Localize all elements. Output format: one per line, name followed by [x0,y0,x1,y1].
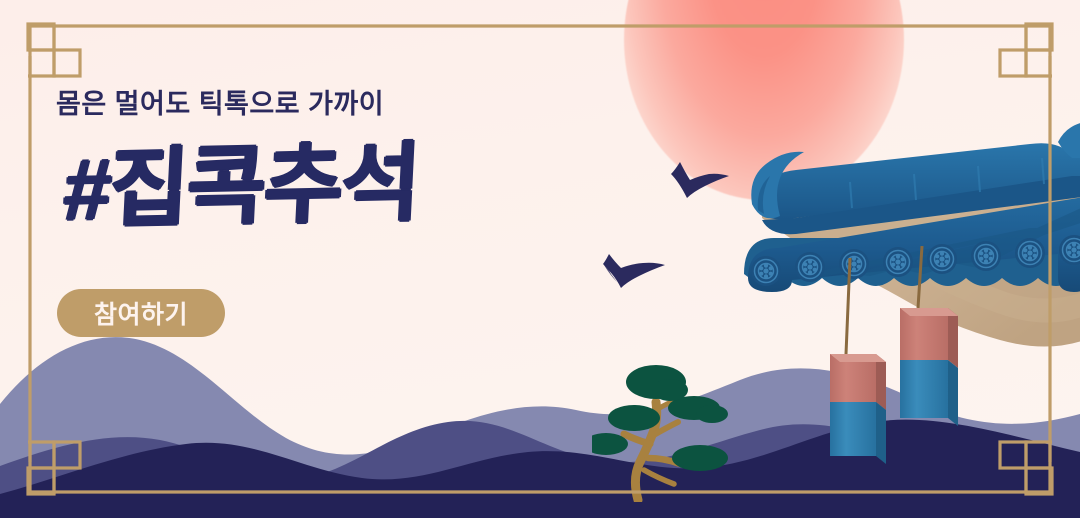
corner-ornament-top-left [28,24,80,76]
participate-button[interactable]: 참여하기 [57,289,225,337]
flying-bird-upper [671,162,729,198]
flying-birds [595,150,745,290]
chuseok-promo-banner: 몸은 멀어도 틱톡으로 가까이 #집콕추석 참여하기 [0,0,1080,518]
banner-headline-wrap: #집콕추석 [56,142,576,254]
banner-copy-block: 몸은 멀어도 틱톡으로 가까이 #집콕추석 [56,88,576,254]
hanging-lantern-left [830,258,886,464]
korean-pine-tree [592,352,737,502]
hanging-lanterns [808,246,998,476]
hanging-lantern-right [900,246,958,426]
corner-ornament-top-right [1000,24,1052,76]
banner-headline: #집콕추석 [62,139,421,237]
flying-bird-lower [603,254,665,288]
pine-foliage [592,365,728,471]
banner-subtitle: 몸은 멀어도 틱톡으로 가까이 [56,88,576,120]
